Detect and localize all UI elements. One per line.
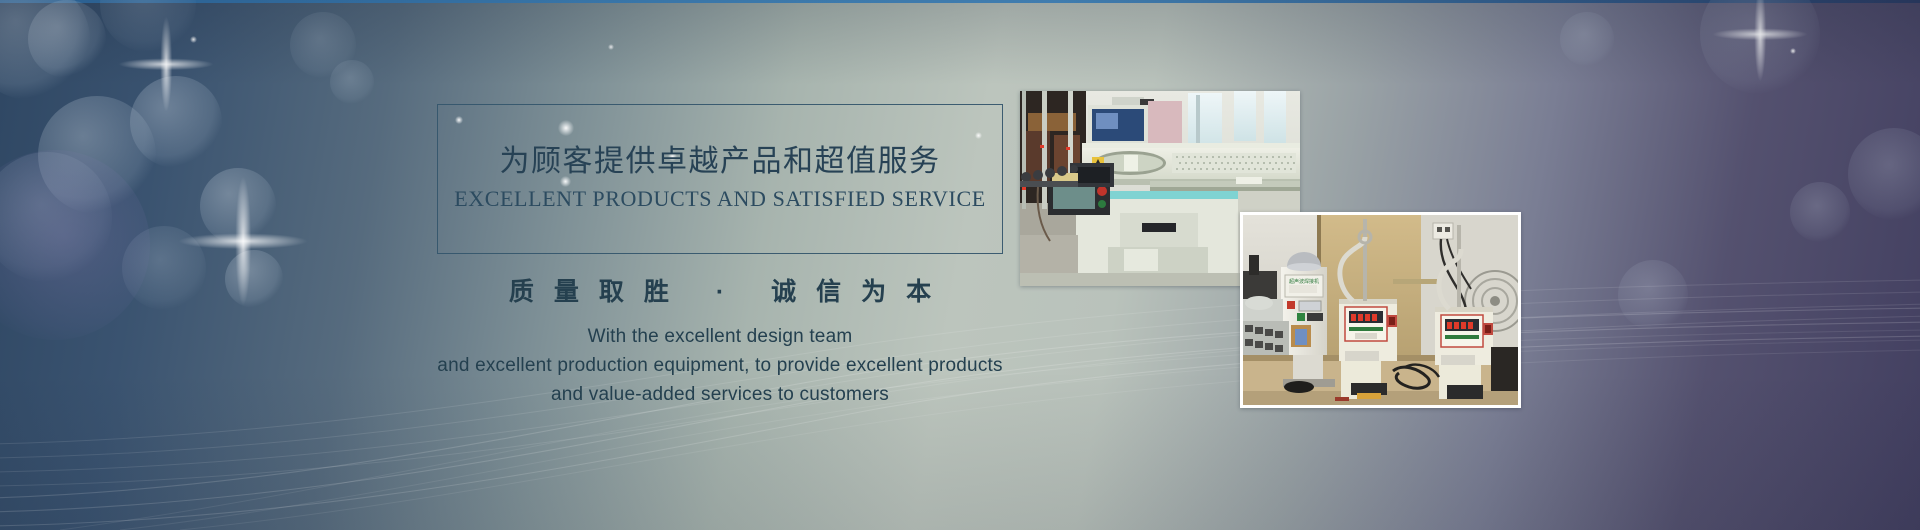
- bokeh-glow: [0, 150, 150, 340]
- bokeh-circle: [1848, 128, 1920, 220]
- bokeh-circle: [1700, 0, 1820, 94]
- sparkle-glint: [1712, 0, 1808, 82]
- bokeh-circle: [1560, 12, 1614, 66]
- bokeh-circle: [38, 96, 156, 214]
- sparkle-glint: [118, 16, 214, 112]
- top-accent-rule: [0, 0, 1920, 3]
- bokeh-circle: [28, 0, 106, 78]
- body-copy: With the excellent design team and excel…: [330, 322, 1110, 409]
- photo-2-image: 超声波焊接机: [1243, 215, 1518, 405]
- bokeh-circle: [1790, 182, 1850, 242]
- bokeh-circle: [290, 12, 356, 78]
- bokeh-circle: [100, 0, 196, 52]
- bokeh-circle: [200, 168, 276, 244]
- background-veil: [0, 0, 1920, 530]
- bokeh-circle: [225, 250, 283, 308]
- headline-chinese: 为顾客提供卓越产品和超值服务: [437, 136, 1003, 180]
- bokeh-circle: [130, 76, 222, 168]
- promo-banner: 为顾客提供卓越产品和超值服务 EXCELLENT PRODUCTS AND SA…: [0, 0, 1920, 530]
- slogan-text: 质量取胜 · 诚信为本: [437, 272, 1003, 308]
- light-dot: [608, 44, 614, 50]
- svg-text:超声波焊接机: 超声波焊接机: [1289, 278, 1319, 285]
- light-dot: [190, 36, 197, 43]
- body-copy-line-2: and excellent production equipment, to p…: [330, 351, 1110, 380]
- bokeh-circle: [1618, 260, 1688, 330]
- headline-block: 为顾客提供卓越产品和超值服务 EXCELLENT PRODUCTS AND SA…: [437, 104, 1003, 254]
- body-copy-line-3: and value-added services to customers: [330, 380, 1110, 409]
- bokeh-circle: [122, 226, 206, 310]
- body-copy-line-1: With the excellent design team: [330, 322, 1110, 351]
- bokeh-circle: [0, 0, 90, 100]
- sparkle-glint: [178, 176, 308, 306]
- light-dot: [1790, 48, 1796, 54]
- headline-english: EXCELLENT PRODUCTS AND SATISFIED SERVICE: [437, 186, 1003, 212]
- bokeh-circle: [0, 152, 112, 282]
- photo-bench-press-machines-workshop[interactable]: 超声波焊接机: [1240, 212, 1521, 408]
- bokeh-circle: [330, 60, 374, 104]
